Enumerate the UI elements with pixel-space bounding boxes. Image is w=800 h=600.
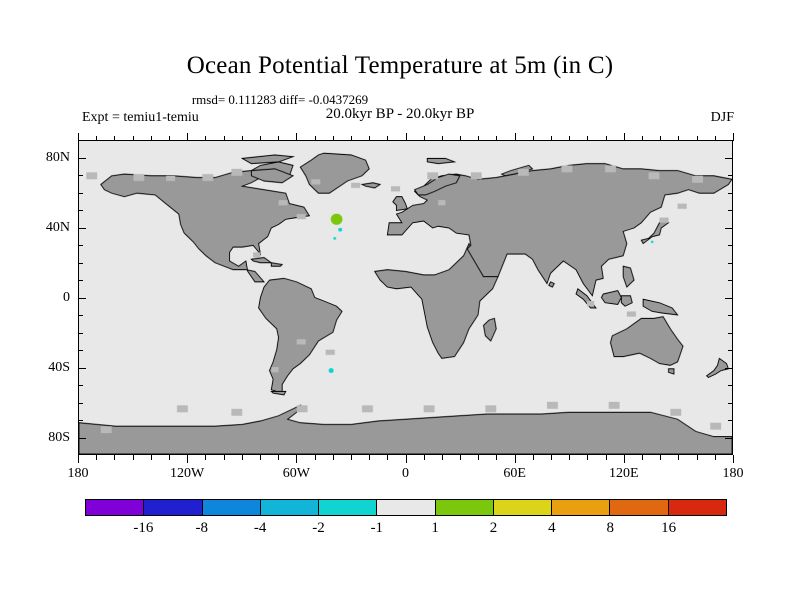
x-tick-top xyxy=(351,136,352,141)
colorbar-tick-label: 16 xyxy=(661,520,676,537)
x-tick-top xyxy=(697,136,698,141)
x-tick xyxy=(187,455,188,463)
x-tick-top xyxy=(315,136,316,141)
x-tick xyxy=(478,455,479,460)
colorbar-tick-label: -2 xyxy=(312,520,325,537)
x-tick xyxy=(333,455,334,460)
x-tick-top xyxy=(587,136,588,141)
y-tick xyxy=(78,315,83,316)
colorbar-tick-label: -16 xyxy=(133,520,153,537)
x-axis-label: 60W xyxy=(283,466,310,482)
y-tick-right xyxy=(728,350,733,351)
colorbar-tick-label: -4 xyxy=(254,520,267,537)
y-tick-right xyxy=(728,210,733,211)
x-tick xyxy=(606,455,607,460)
x-tick-top xyxy=(569,136,570,141)
x-tick xyxy=(496,455,497,460)
y-tick-right xyxy=(728,385,733,386)
x-tick xyxy=(715,455,716,460)
x-tick xyxy=(442,455,443,460)
y-tick-right xyxy=(728,245,733,246)
x-tick xyxy=(642,455,643,460)
y-tick xyxy=(78,158,86,159)
x-tick xyxy=(369,455,370,460)
y-tick xyxy=(78,420,83,421)
y-axis-label: 80S xyxy=(26,430,70,446)
x-tick-top xyxy=(260,136,261,141)
y-axis-label: 40N xyxy=(26,220,70,236)
x-tick xyxy=(515,455,516,463)
colorbar-tick-label: -8 xyxy=(195,520,208,537)
x-tick xyxy=(96,455,97,460)
y-tick xyxy=(78,403,83,404)
x-tick-top xyxy=(187,133,188,141)
x-tick xyxy=(733,455,734,463)
x-axis-label: 120W xyxy=(170,466,204,482)
x-tick-top xyxy=(606,136,607,141)
y-tick-right xyxy=(725,438,733,439)
x-tick xyxy=(387,455,388,460)
y-tick-right xyxy=(728,420,733,421)
experiment-label: Expt = temiu1-temiu xyxy=(82,110,199,126)
colorbar-swatch-cyan xyxy=(319,500,377,515)
y-tick-right xyxy=(728,193,733,194)
x-tick xyxy=(406,455,407,463)
x-tick-top xyxy=(624,133,625,141)
y-tick-right xyxy=(728,333,733,334)
x-tick-top xyxy=(660,136,661,141)
x-tick-top xyxy=(733,133,734,141)
y-tick xyxy=(78,368,86,369)
x-tick-top xyxy=(242,136,243,141)
x-tick xyxy=(260,455,261,460)
colorbar-swatch-red xyxy=(669,500,726,515)
x-tick-top xyxy=(642,136,643,141)
x-tick-top xyxy=(133,136,134,141)
colorbar-tick-label: 2 xyxy=(490,520,498,537)
y-axis-label: 80N xyxy=(26,150,70,166)
x-tick-top xyxy=(369,136,370,141)
page-title: Ocean Potential Temperature at 5m (in C) xyxy=(0,52,800,80)
x-tick xyxy=(678,455,679,460)
x-tick xyxy=(587,455,588,460)
x-tick xyxy=(242,455,243,460)
x-tick-top xyxy=(424,136,425,141)
colorbar-swatch-blue xyxy=(144,500,202,515)
x-tick-top xyxy=(169,136,170,141)
colorbar-tick-label: 4 xyxy=(548,520,556,537)
y-tick xyxy=(78,228,86,229)
season-label: DJF xyxy=(711,110,734,126)
colorbar xyxy=(85,499,727,516)
colorbar-swatch-orange xyxy=(610,500,668,515)
y-tick xyxy=(78,350,83,351)
world-map-canvas xyxy=(79,141,732,454)
x-tick xyxy=(133,455,134,460)
y-tick-right xyxy=(728,315,733,316)
colorbar-swatch-purple xyxy=(86,500,144,515)
colorbar-tick-label: -1 xyxy=(371,520,384,537)
y-tick xyxy=(78,245,83,246)
x-tick xyxy=(460,455,461,460)
x-tick xyxy=(315,455,316,460)
x-tick-top xyxy=(224,136,225,141)
x-tick-top xyxy=(387,136,388,141)
y-axis-label: 0 xyxy=(26,290,70,306)
x-tick-top xyxy=(78,133,79,141)
map-plot-area xyxy=(78,140,733,455)
x-tick-top xyxy=(406,133,407,141)
x-tick xyxy=(551,455,552,460)
colorbar-swatch-amber xyxy=(552,500,610,515)
x-tick-top xyxy=(96,136,97,141)
y-tick xyxy=(78,280,83,281)
x-tick xyxy=(624,455,625,463)
x-tick-top xyxy=(496,136,497,141)
x-tick xyxy=(351,455,352,460)
y-tick xyxy=(78,333,83,334)
y-tick-right xyxy=(725,368,733,369)
y-axis-label: 40S xyxy=(26,360,70,376)
x-axis-label: 0 xyxy=(402,466,409,482)
x-tick-top xyxy=(278,136,279,141)
y-tick xyxy=(78,193,83,194)
x-tick xyxy=(169,455,170,460)
x-axis-label: 60E xyxy=(503,466,526,482)
x-tick-top xyxy=(533,136,534,141)
colorbar-swatch-green xyxy=(436,500,494,515)
colorbar-swatch-light-blue xyxy=(261,500,319,515)
x-tick xyxy=(278,455,279,460)
y-tick-right xyxy=(725,158,733,159)
y-tick-right xyxy=(728,263,733,264)
x-tick-top xyxy=(715,136,716,141)
y-tick xyxy=(78,263,83,264)
x-tick-top xyxy=(296,133,297,141)
colorbar-tick-label: 1 xyxy=(431,520,439,537)
x-tick-top xyxy=(460,136,461,141)
x-tick xyxy=(296,455,297,463)
x-tick-top xyxy=(151,136,152,141)
colorbar-swatch-yellow xyxy=(494,500,552,515)
climate-map-figure: Ocean Potential Temperature at 5m (in C)… xyxy=(0,0,800,600)
x-tick xyxy=(151,455,152,460)
y-tick-right xyxy=(725,228,733,229)
x-tick xyxy=(205,455,206,460)
y-tick xyxy=(78,385,83,386)
x-tick-top xyxy=(478,136,479,141)
y-tick-right xyxy=(725,298,733,299)
x-tick xyxy=(224,455,225,460)
y-tick xyxy=(78,298,86,299)
x-tick xyxy=(697,455,698,460)
x-axis-label: 180 xyxy=(68,466,89,482)
x-tick xyxy=(533,455,534,460)
x-tick xyxy=(424,455,425,460)
y-tick-right xyxy=(728,175,733,176)
colorbar-swatch-medium-blue xyxy=(203,500,261,515)
y-tick xyxy=(78,210,83,211)
x-tick xyxy=(569,455,570,460)
y-tick-right xyxy=(728,403,733,404)
x-tick-top xyxy=(515,133,516,141)
colorbar-tick-label: 8 xyxy=(607,520,615,537)
y-tick-right xyxy=(728,280,733,281)
x-tick-top xyxy=(442,136,443,141)
colorbar-swatch-neutral-gray xyxy=(377,500,435,515)
x-tick-top xyxy=(205,136,206,141)
x-axis-label: 180 xyxy=(723,466,744,482)
x-tick xyxy=(78,455,79,463)
y-tick xyxy=(78,175,83,176)
y-tick xyxy=(78,438,86,439)
x-tick-top xyxy=(333,136,334,141)
x-tick-top xyxy=(678,136,679,141)
x-tick xyxy=(660,455,661,460)
x-axis-label: 120E xyxy=(609,466,639,482)
x-tick xyxy=(114,455,115,460)
x-tick-top xyxy=(551,136,552,141)
x-tick-top xyxy=(114,136,115,141)
